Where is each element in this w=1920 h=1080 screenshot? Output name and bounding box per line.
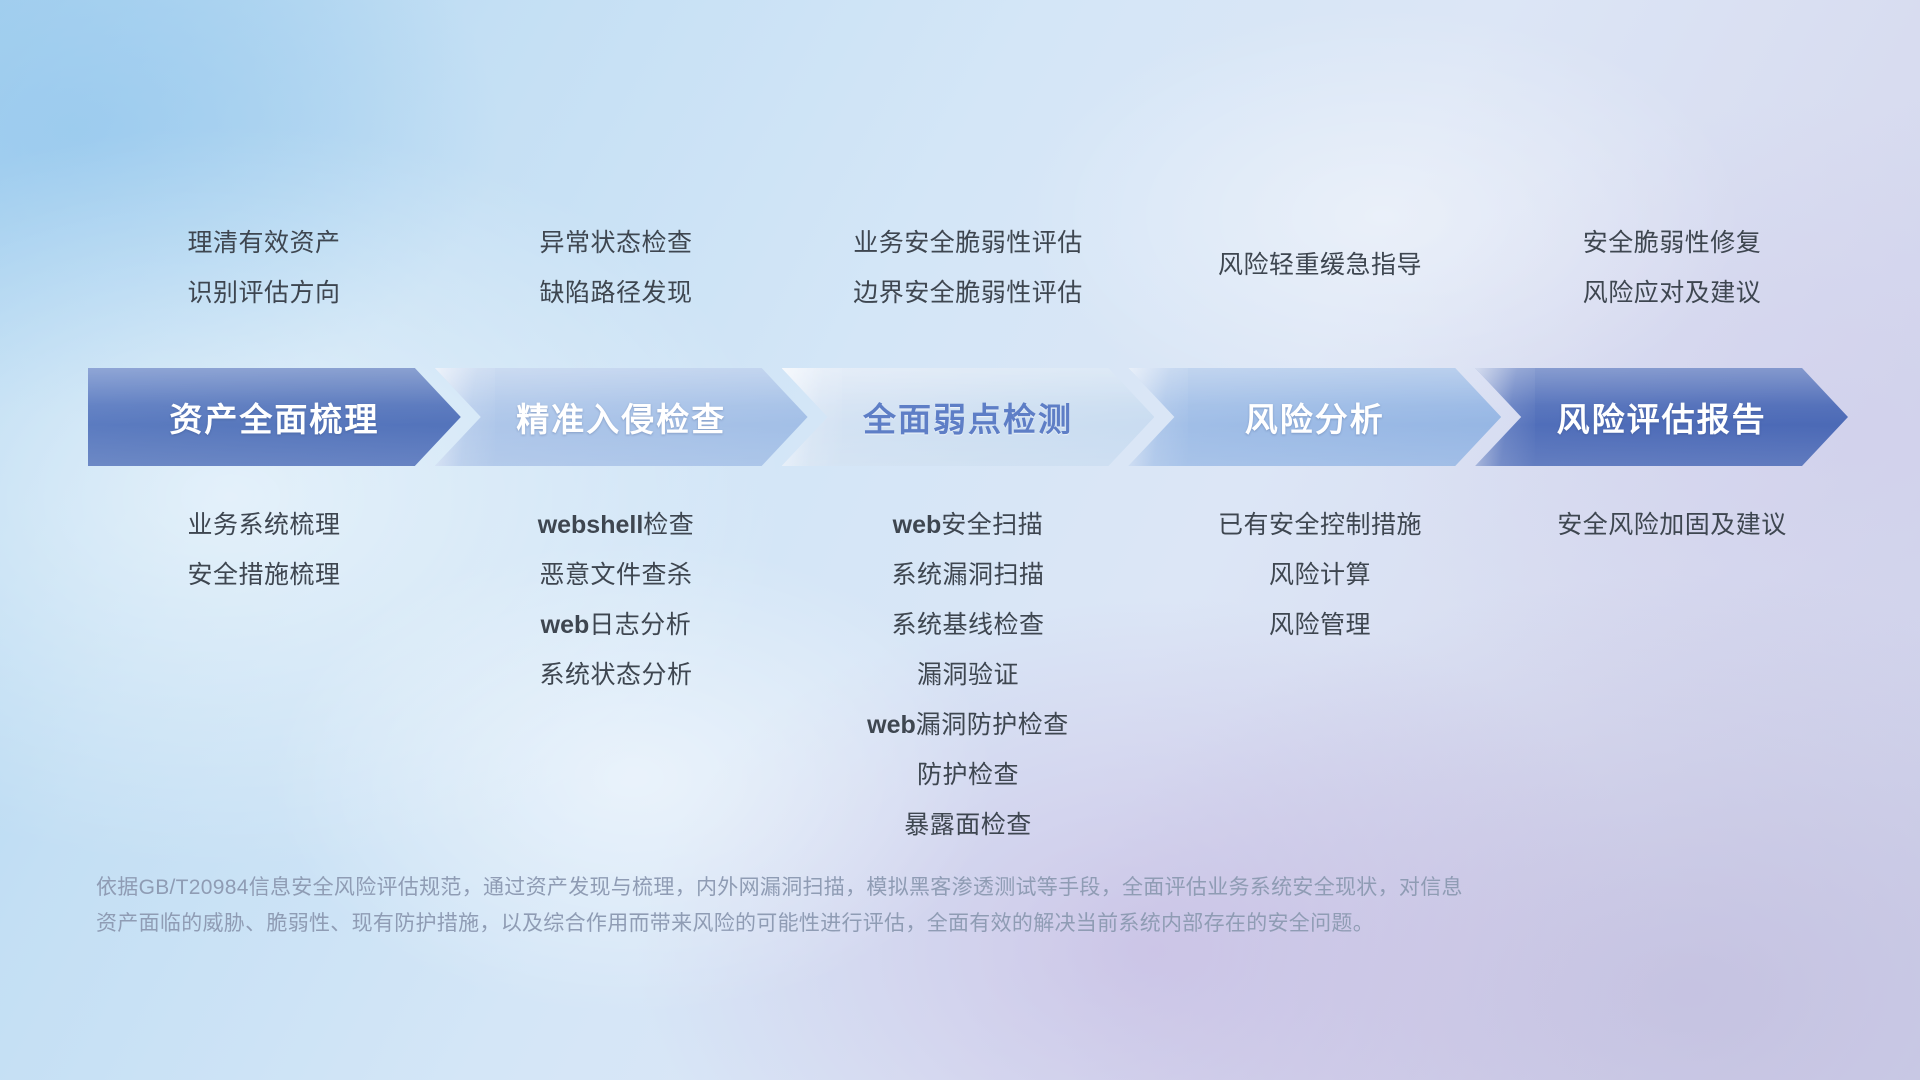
task-item: 恶意文件查杀 (440, 550, 792, 600)
stage-label: 风险分析 (1245, 393, 1385, 441)
note-item: 风险轻重缓急指导 (1144, 240, 1496, 290)
stage-chevron-intrusion-check[interactable]: 精准入侵检查 (435, 368, 808, 466)
top-notes-risk-analysis: 风险轻重缓急指导 (1144, 218, 1496, 318)
top-notes-risk-report: 安全脆弱性修复风险应对及建议 (1496, 218, 1848, 318)
note-item: 缺陷路径发现 (440, 268, 792, 318)
task-item: 安全措施梳理 (88, 550, 440, 600)
task-item: 暴露面检查 (792, 800, 1144, 850)
footer-description: 依据GB/T20984信息安全风险评估规范，通过资产发现与梳理，内外网漏洞扫描，… (96, 870, 1620, 942)
task-item: web日志分析 (440, 600, 792, 650)
note-item: 异常状态检查 (440, 218, 792, 268)
task-item: 业务系统梳理 (88, 500, 440, 550)
top-notes-intrusion-check: 异常状态检查缺陷路径发现 (440, 218, 792, 318)
task-item: web漏洞防护检查 (792, 700, 1144, 750)
stage-label: 资产全面梳理 (169, 393, 379, 441)
stage-chevron-risk-analysis[interactable]: 风险分析 (1128, 368, 1501, 466)
bottom-notes-row: 业务系统梳理安全措施梳理webshell检查恶意文件查杀web日志分析系统状态分… (88, 500, 1848, 850)
bottom-notes-risk-analysis: 已有安全控制措施风险计算风险管理 (1144, 500, 1496, 850)
bottom-notes-asset-inventory: 业务系统梳理安全措施梳理 (88, 500, 440, 850)
note-item: 理清有效资产 (88, 218, 440, 268)
stage-label: 精准入侵检查 (516, 393, 726, 441)
note-item: 风险应对及建议 (1496, 268, 1848, 318)
task-item: 系统漏洞扫描 (792, 550, 1144, 600)
task-item: 安全风险加固及建议 (1496, 500, 1848, 550)
task-item: 风险计算 (1144, 550, 1496, 600)
top-notes-asset-inventory: 理清有效资产识别评估方向 (88, 218, 440, 318)
stage-label: 全面弱点检测 (863, 393, 1073, 441)
top-notes-weakness-detection: 业务安全脆弱性评估边界安全脆弱性评估 (792, 218, 1144, 318)
note-item: 业务安全脆弱性评估 (792, 218, 1144, 268)
slide-canvas: 理清有效资产识别评估方向异常状态检查缺陷路径发现业务安全脆弱性评估边界安全脆弱性… (0, 0, 1920, 1080)
bottom-notes-intrusion-check: webshell检查恶意文件查杀web日志分析系统状态分析 (440, 500, 792, 850)
bottom-notes-risk-report: 安全风险加固及建议 (1496, 500, 1848, 850)
bottom-notes-weakness-detection: web安全扫描系统漏洞扫描系统基线检查漏洞验证web漏洞防护检查防护检查暴露面检… (792, 500, 1144, 850)
stage-chevron-risk-report[interactable]: 风险评估报告 (1475, 368, 1848, 466)
process-chevron-band: 资产全面梳理精准入侵检查全面弱点检测风险分析风险评估报告 (88, 368, 1848, 466)
note-item: 安全脆弱性修复 (1496, 218, 1848, 268)
stage-chevron-weakness-detection[interactable]: 全面弱点检测 (782, 368, 1155, 466)
task-item: 漏洞验证 (792, 650, 1144, 700)
top-notes-row: 理清有效资产识别评估方向异常状态检查缺陷路径发现业务安全脆弱性评估边界安全脆弱性… (88, 218, 1848, 318)
footer-line-2: 资产面临的威胁、脆弱性、现有防护措施，以及综合作用而带来风险的可能性进行评估，全… (96, 906, 1620, 942)
stage-chevron-asset-inventory[interactable]: 资产全面梳理 (88, 368, 461, 466)
task-item: 系统状态分析 (440, 650, 792, 700)
task-item: 已有安全控制措施 (1144, 500, 1496, 550)
task-item: web安全扫描 (792, 500, 1144, 550)
task-item: webshell检查 (440, 500, 792, 550)
stage-label: 风险评估报告 (1557, 393, 1767, 441)
task-item: 风险管理 (1144, 600, 1496, 650)
task-item: 防护检查 (792, 750, 1144, 800)
footer-line-1: 依据GB/T20984信息安全风险评估规范，通过资产发现与梳理，内外网漏洞扫描，… (96, 870, 1620, 906)
note-item: 边界安全脆弱性评估 (792, 268, 1144, 318)
note-item: 识别评估方向 (88, 268, 440, 318)
task-item: 系统基线检查 (792, 600, 1144, 650)
